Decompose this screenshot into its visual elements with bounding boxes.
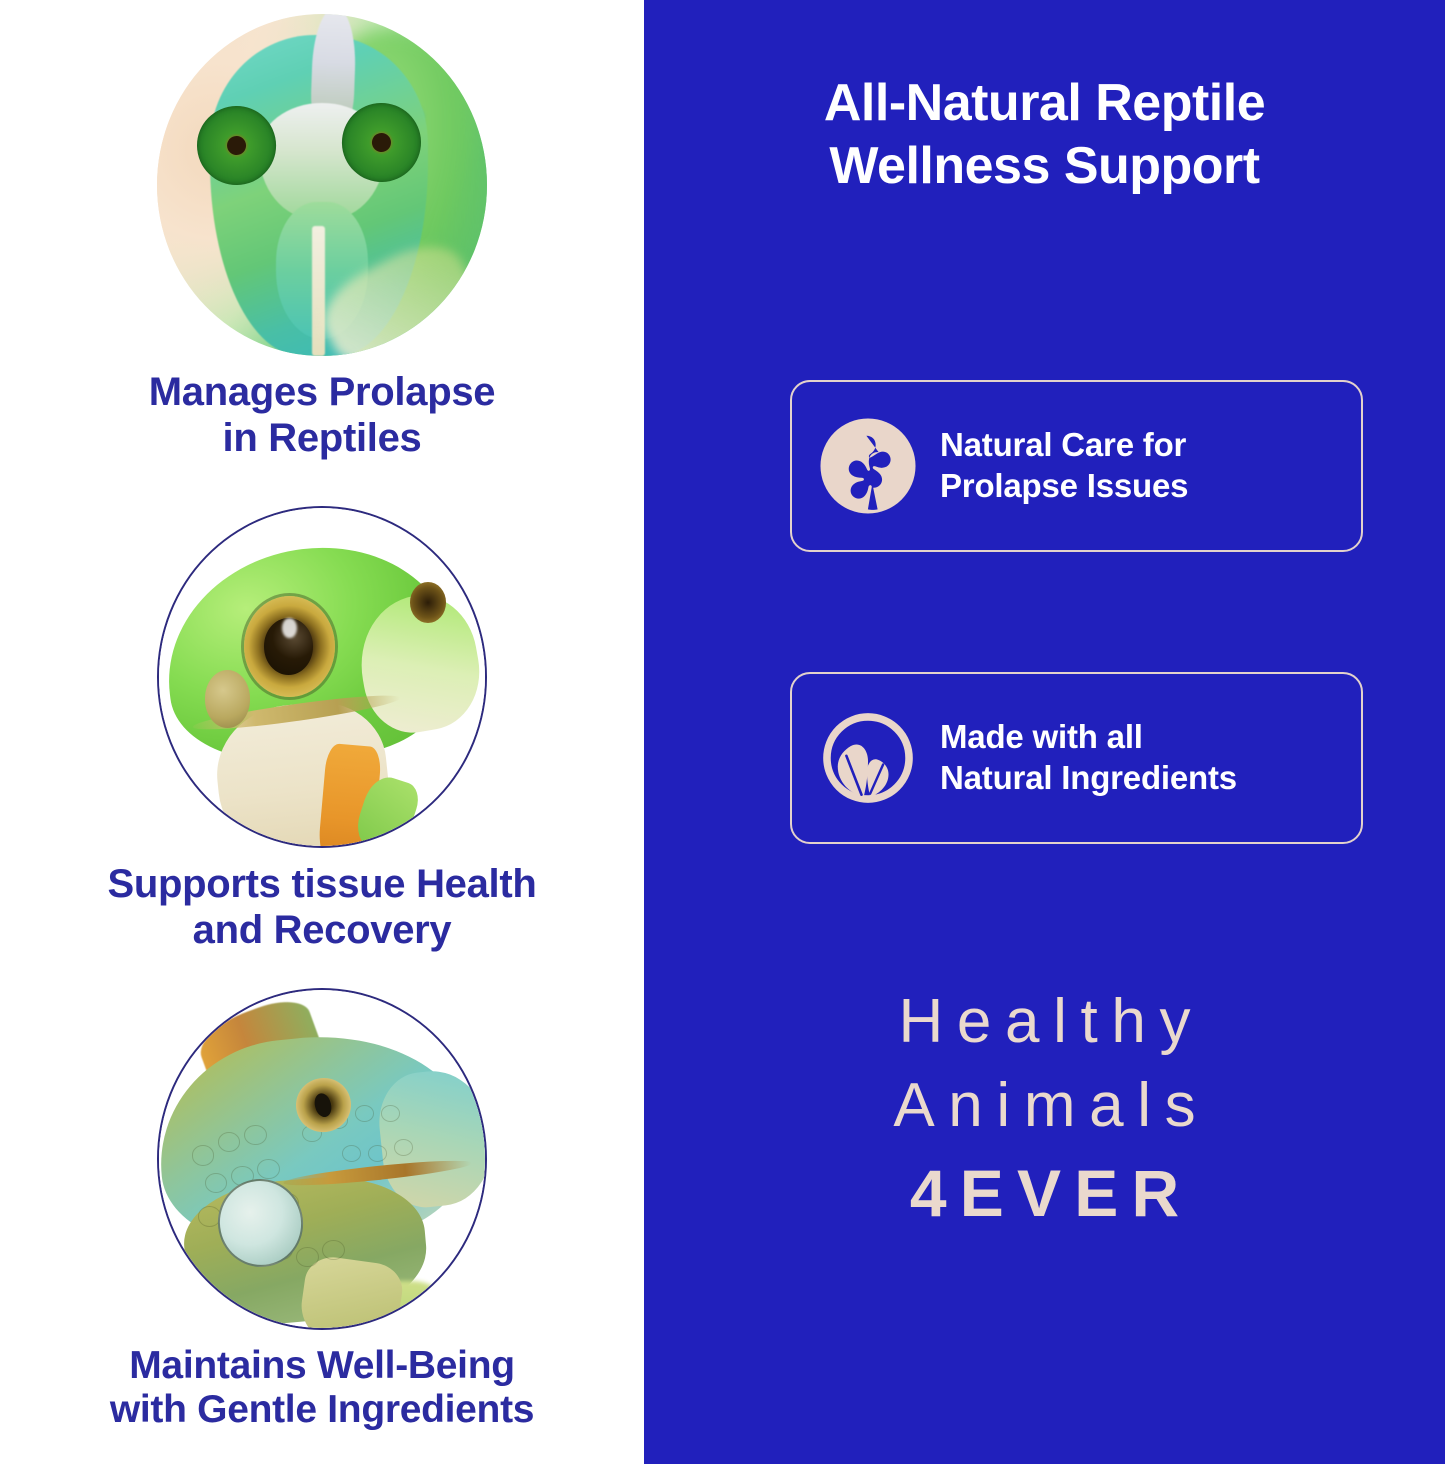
feature-caption-2: Supports tissue Health and Recovery <box>0 862 644 953</box>
leaves-circle-icon <box>814 704 922 812</box>
badge-2-line-2: Natural Ingredients <box>940 758 1237 799</box>
headline-line-2: Wellness Support <box>694 135 1395 198</box>
iguana-scale-texture <box>159 990 485 1328</box>
product-infographic: Manages Prolapse in Reptiles <box>0 0 1445 1464</box>
benefit-badge-natural-ingredients-text: Made with all Natural Ingredients <box>940 717 1237 799</box>
iguana-photo <box>157 988 487 1330</box>
badge-1-line-1: Natural Care for <box>940 425 1188 466</box>
feature-caption-2-line2: and Recovery <box>6 908 638 954</box>
left-feature-column: Manages Prolapse in Reptiles <box>0 0 644 1464</box>
feature-caption-1: Manages Prolapse in Reptiles <box>0 370 644 461</box>
right-blue-panel: All-Natural Reptile Wellness Support Nat… <box>644 0 1445 1464</box>
feature-block-2: Supports tissue Health and Recovery <box>0 506 644 953</box>
badge-2-line-1: Made with all <box>940 717 1237 758</box>
feature-block-3: Maintains Well-Being with Gentle Ingredi… <box>0 988 644 1433</box>
iguana-photo-wrap <box>157 988 487 1330</box>
brand-line-4ever: 4EVER <box>644 1149 1445 1238</box>
frog-eye <box>244 596 335 697</box>
chameleon-photo-wrap <box>157 14 487 356</box>
feature-caption-1-line2: in Reptiles <box>6 416 638 462</box>
brand-line-healthy: Healthy <box>644 980 1445 1064</box>
chameleon-photo <box>157 14 487 356</box>
badge-1-line-2: Prolapse Issues <box>940 466 1188 507</box>
feature-caption-3-line1: Maintains Well-Being <box>6 1344 638 1388</box>
brand-lockup: Healthy Animals 4EVER <box>644 980 1445 1238</box>
feature-caption-3-line2: with Gentle Ingredients <box>6 1388 638 1432</box>
brand-line-animals: Animals <box>644 1064 1445 1148</box>
feature-caption-3: Maintains Well-Being with Gentle Ingredi… <box>0 1344 644 1433</box>
feature-caption-1-line1: Manages Prolapse <box>6 370 638 416</box>
frog-photo <box>157 506 487 848</box>
headline-line-1: All-Natural Reptile <box>694 72 1395 135</box>
frog-far-eye <box>410 582 446 623</box>
tree-circle-icon <box>814 412 922 520</box>
benefit-badge-natural-ingredients: Made with all Natural Ingredients <box>790 672 1363 844</box>
feature-block-1: Manages Prolapse in Reptiles <box>0 14 644 461</box>
feature-caption-2-line1: Supports tissue Health <box>6 862 638 908</box>
benefit-badge-natural-care-text: Natural Care for Prolapse Issues <box>940 425 1188 507</box>
page-title: All-Natural Reptile Wellness Support <box>644 72 1445 199</box>
benefit-badge-list: Natural Care for Prolapse Issues Made wi… <box>790 380 1363 844</box>
frog-photo-wrap <box>157 506 487 848</box>
benefit-badge-natural-care: Natural Care for Prolapse Issues <box>790 380 1363 552</box>
